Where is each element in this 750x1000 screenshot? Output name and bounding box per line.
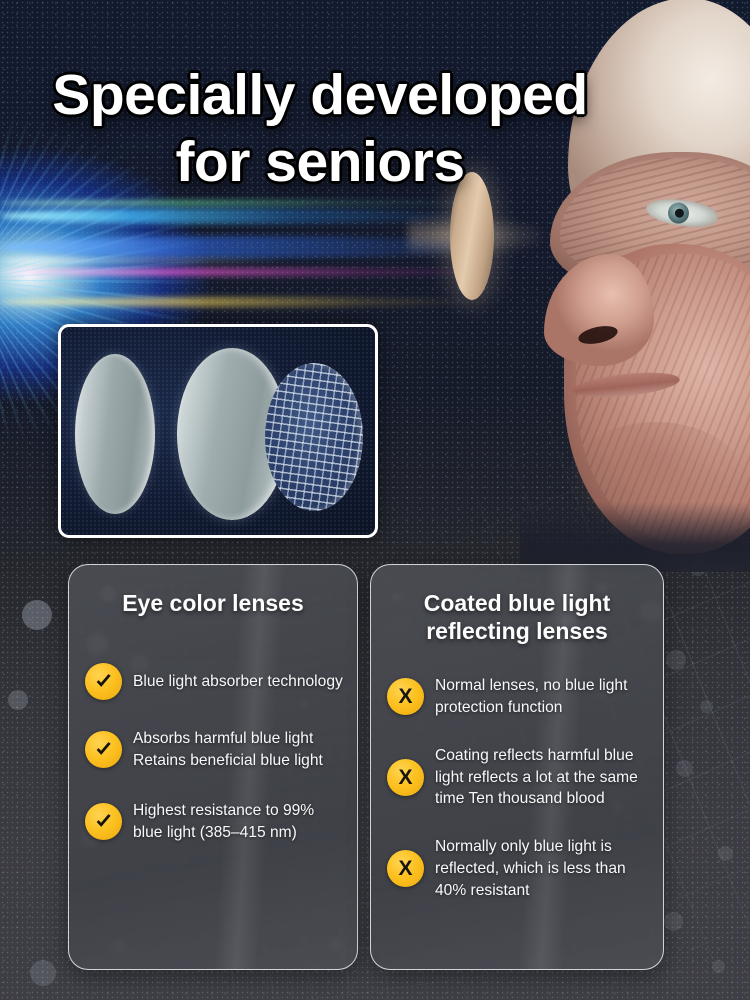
cross-icon-glyph: X [398, 767, 412, 788]
light-ray-yellow [0, 297, 495, 307]
card-eye-color-lenses[interactable]: Eye color lenses Blue light absorber tec… [68, 564, 358, 970]
check-icon [85, 803, 122, 840]
light-ray-white [0, 258, 300, 263]
bokeh-circle [30, 960, 56, 986]
face-illustration [520, 0, 750, 572]
iris-shape [667, 201, 690, 224]
list-item-label: Highest resistance to 99% blue light (38… [133, 800, 343, 844]
lens-specimen-photo [58, 324, 378, 538]
list-item: Highest resistance to 99% blue light (38… [69, 800, 357, 844]
card-title-coated-blue-light-reflecting-lenses: Coated blue light reflecting lenses [371, 565, 663, 645]
cross-icon: X [387, 678, 424, 715]
list-item: X Normally only blue light is reflected,… [371, 836, 663, 901]
list-item: Blue light absorber technology [69, 663, 357, 700]
list-item-label: Normally only blue light is reflected, w… [435, 836, 649, 901]
light-ray-green [0, 200, 500, 206]
bokeh-circle [8, 690, 28, 710]
cross-icon-glyph: X [398, 686, 412, 707]
bokeh-circle [718, 846, 733, 861]
check-icon [85, 731, 122, 768]
card-coated-blue-light-reflecting-lenses[interactable]: Coated blue light reflecting lenses X No… [370, 564, 664, 970]
list-item-label: Normal lenses, no blue light protection … [435, 675, 649, 719]
product-infographic-poster: Specially developed for seniors Eye colo… [0, 0, 750, 1000]
pupil-shape [674, 208, 684, 218]
bokeh-circle [700, 700, 713, 713]
cross-icon-glyph: X [398, 858, 412, 879]
portrait-bottom-fade [520, 502, 750, 572]
plain-lens-left [75, 354, 155, 514]
list-item-label: Blue light absorber technology [133, 671, 343, 693]
bokeh-circle [666, 650, 686, 670]
list-item: X Normal lenses, no blue light protectio… [371, 675, 663, 719]
bokeh-circle [712, 960, 725, 973]
card-title-eye-color-lenses: Eye color lenses [69, 565, 357, 617]
feature-list-coated-blue-light-reflecting-lenses: X Normal lenses, no blue light protectio… [371, 675, 663, 902]
list-item-label: Coating reflects harmful blue light refl… [435, 745, 649, 810]
feature-list-eye-color-lenses: Blue light absorber technology Absorbs h… [69, 663, 357, 843]
list-item: X Coating reflects harmful blue light re… [371, 745, 663, 810]
coated-mesh-lens-right [265, 363, 363, 511]
cross-icon: X [387, 850, 424, 887]
bokeh-circle [22, 600, 52, 630]
check-icon [85, 663, 122, 700]
senior-man-portrait [520, 0, 750, 572]
bokeh-circle [676, 760, 693, 777]
bokeh-circle [664, 912, 683, 931]
list-item: Absorbs harmful blue light Retains benef… [69, 728, 357, 772]
light-ray-cyan [0, 208, 470, 224]
light-ray-magenta [0, 268, 505, 276]
eye-color-lens-disc [450, 172, 494, 300]
cross-icon: X [387, 759, 424, 796]
nose-shape [544, 254, 654, 366]
list-item-label: Absorbs harmful blue light Retains benef… [133, 728, 343, 772]
